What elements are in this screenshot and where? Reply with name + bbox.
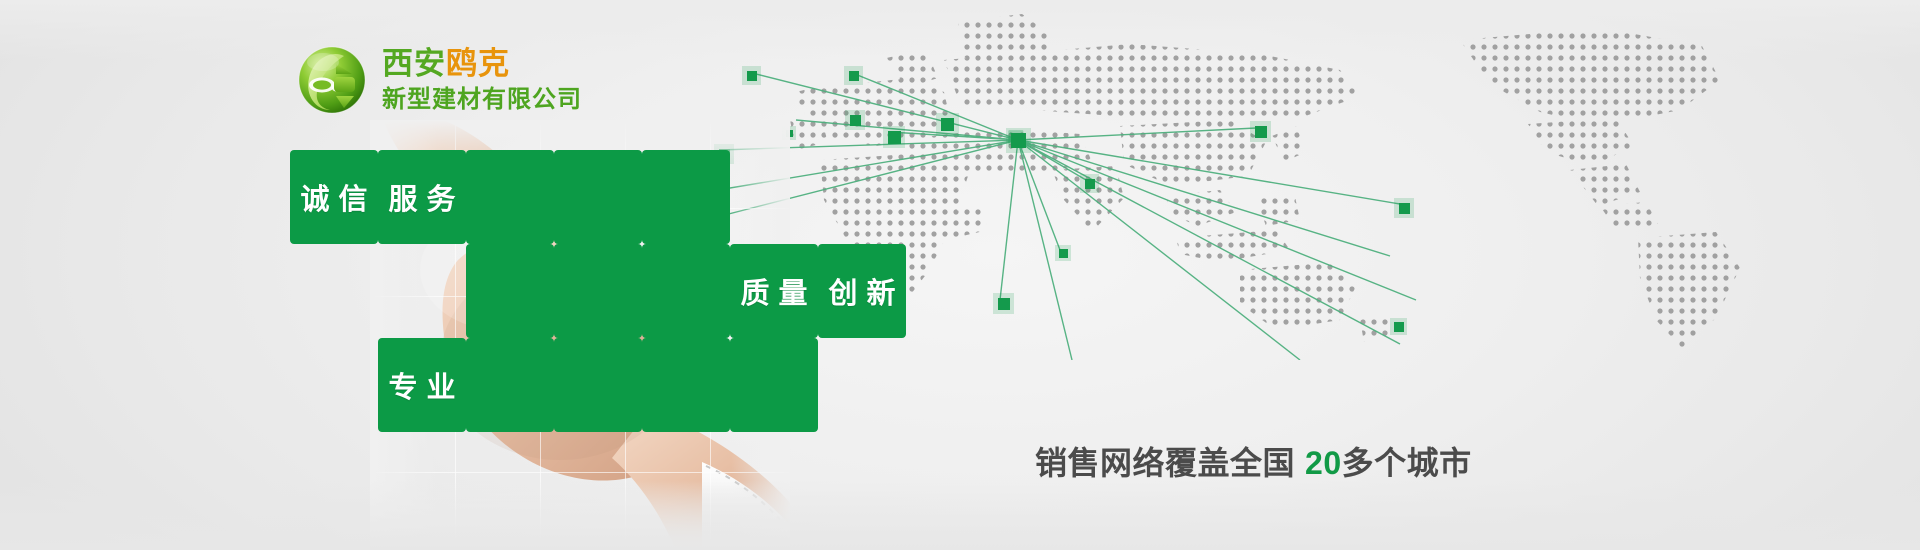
feature-tile-blank xyxy=(642,338,730,432)
feature-tile-label: 质量 xyxy=(731,270,816,312)
tagline-prefix: 销售网络覆盖全国 xyxy=(1035,445,1295,481)
feature-tile-blank xyxy=(642,244,730,338)
banner-stage: 诚信服务质量创新专业 xyxy=(0,0,1920,550)
feature-tile-blank xyxy=(554,244,642,338)
logo-company-name-line1: 西安鸥克 xyxy=(382,48,582,79)
feature-tile-label: 创新 xyxy=(819,270,904,312)
feature-tile-blank xyxy=(466,150,554,244)
sales-network-tagline: 销售网络覆盖全国20多个城市 xyxy=(1035,438,1472,484)
feature-tile-blank xyxy=(730,338,818,432)
tagline-suffix: 多个城市 xyxy=(1342,445,1472,481)
feature-tile-label: 服务 xyxy=(379,176,464,218)
company-logo[interactable]: 西安鸥克 新型建材有限公司 xyxy=(296,44,582,116)
feature-tile-label: 诚信 xyxy=(291,176,376,218)
feature-tile-blank xyxy=(466,244,554,338)
feature-tile-服务: 服务 xyxy=(378,150,466,244)
feature-tile-质量: 质量 xyxy=(730,244,818,338)
tagline-number: 20 xyxy=(1305,445,1342,481)
feature-tile-blank xyxy=(554,150,642,244)
feature-tile-grid: 诚信服务质量创新专业 xyxy=(0,0,1920,550)
feature-tile-blank xyxy=(466,338,554,432)
sphere-leaf-icon xyxy=(296,44,368,116)
logo-company-name-line2: 新型建材有限公司 xyxy=(382,88,582,112)
feature-tile-blank xyxy=(554,338,642,432)
feature-tile-创新: 创新 xyxy=(818,244,906,338)
feature-tile-专业: 专业 xyxy=(378,338,466,432)
feature-tile-label: 专业 xyxy=(379,364,464,406)
logo-city-text: 西安 xyxy=(382,46,446,81)
feature-tile-blank xyxy=(642,150,730,244)
logo-text-block: 西安鸥克 新型建材有限公司 xyxy=(382,48,582,112)
logo-brand-text: 鸥克 xyxy=(446,46,510,81)
feature-tile-诚信: 诚信 xyxy=(290,150,378,244)
